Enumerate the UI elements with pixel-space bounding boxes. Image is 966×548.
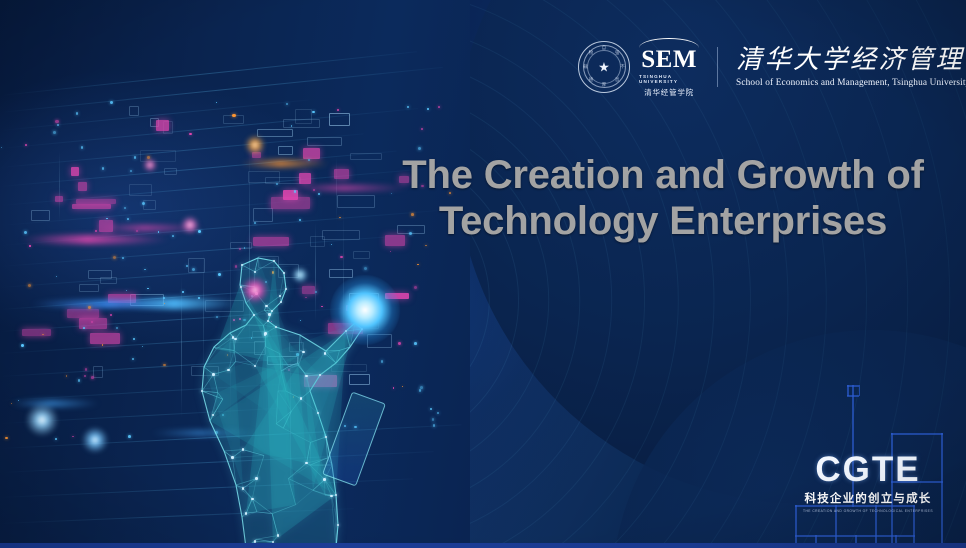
data-dot	[42, 334, 44, 336]
emblem-char: 强	[615, 51, 619, 55]
circuit-chip	[129, 184, 152, 196]
sem-wordmark: SEM	[641, 47, 697, 72]
data-dot	[294, 190, 297, 193]
circuit-chip-lit	[76, 199, 116, 204]
data-dot	[136, 230, 138, 232]
circuit-chip-lit	[253, 237, 289, 246]
emblem-char: 厚	[602, 83, 606, 87]
data-dot	[232, 114, 235, 117]
circuit-chip	[129, 106, 139, 116]
circuit-chip	[164, 168, 177, 176]
emblem-star-icon: ★	[598, 60, 610, 73]
circuit-chip	[278, 146, 293, 155]
emblem-char: 物	[589, 51, 593, 55]
circuit-chip	[253, 208, 273, 222]
figure-node	[264, 332, 267, 335]
circuit-chip	[337, 195, 375, 208]
data-dot	[25, 144, 27, 146]
data-dot	[102, 344, 103, 345]
title-line-1: The Creation and Growth of	[402, 153, 923, 197]
data-dot	[313, 189, 315, 191]
data-dot	[29, 245, 30, 246]
figure-node	[268, 313, 271, 316]
light-spark-icon	[330, 275, 400, 345]
data-dot	[88, 306, 90, 308]
data-dot	[147, 156, 149, 158]
title-line-2: Technology Enterprises	[383, 198, 943, 244]
figure-node	[302, 351, 305, 354]
emblem-char: 息	[615, 78, 619, 82]
circuit-chip	[79, 284, 99, 292]
light-streak	[10, 400, 100, 407]
light-streak	[20, 235, 170, 244]
data-dot	[110, 101, 113, 104]
data-dot	[55, 120, 58, 123]
data-dot	[85, 368, 87, 370]
data-dot	[1, 147, 2, 148]
emblem-char: 不	[620, 65, 624, 69]
data-dot	[57, 124, 59, 126]
light-streak	[240, 160, 330, 167]
circuit-chip-lit	[78, 182, 87, 191]
figure-node	[324, 352, 327, 355]
wireframe-figure-icon	[150, 255, 450, 548]
data-dot	[21, 344, 24, 347]
figure-node	[255, 477, 258, 480]
figure-node	[251, 498, 254, 501]
light-point	[82, 427, 108, 453]
figure-node	[330, 495, 333, 498]
circuit-chip-lit	[334, 169, 348, 179]
circuit-chip	[350, 153, 382, 160]
bottom-accent-strip	[0, 543, 966, 548]
figure-node	[305, 375, 308, 378]
circuit-chip-lit	[156, 120, 169, 131]
circuit-chip-lit	[303, 148, 319, 159]
figure-node	[254, 271, 257, 274]
light-point	[245, 135, 265, 155]
circuit-chip	[322, 230, 360, 240]
linework-bar	[847, 385, 859, 387]
data-dot	[110, 314, 112, 316]
light-point	[26, 404, 58, 436]
digital-artwork	[0, 0, 470, 548]
data-dot	[76, 112, 78, 114]
circuit-chip-lit	[22, 329, 50, 336]
course-name-cn: 科技企业的创立与成长	[793, 490, 943, 506]
data-dot	[66, 375, 67, 376]
school-name-en: School of Economics and Management, Tsin…	[736, 78, 966, 88]
figure-node	[323, 478, 326, 481]
data-dot	[91, 376, 94, 379]
data-dot	[5, 437, 7, 439]
sem-wordmark-block: SEM TSINGHUA UNIVERSITY 清华经管学院	[639, 36, 699, 98]
circuit-chip	[307, 137, 342, 146]
circuit-chip	[329, 113, 350, 126]
circuit-chip	[31, 210, 50, 221]
linework-bar	[847, 395, 859, 397]
circuit-chip-lit	[283, 190, 299, 200]
figure-node	[212, 373, 215, 376]
circuit-chip	[257, 129, 293, 137]
light-point	[143, 158, 157, 172]
circuit-chip	[265, 177, 301, 185]
figure-node	[231, 456, 234, 459]
data-dot	[158, 231, 159, 232]
sem-sub-cn: 清华经管学院	[644, 87, 694, 98]
circuit-chip-lit	[72, 204, 111, 209]
school-name-block: 清华大学经济管理学院 School of Economics and Manag…	[736, 46, 966, 88]
course-acronym: CGTE	[793, 452, 943, 487]
figure-node	[242, 448, 245, 451]
circuit-chip	[100, 277, 117, 284]
data-dot	[142, 202, 145, 205]
emblem-char: 载	[583, 65, 587, 69]
circuit-chip-lit	[299, 173, 311, 184]
title-slide: ★ 自强不息厚德载物 SEM TSINGHUA UNIVERSITY 清华经管学…	[0, 0, 966, 548]
emblem-char: 自	[602, 46, 606, 50]
data-dot	[78, 379, 81, 382]
sem-sub-en: TSINGHUA UNIVERSITY	[639, 74, 699, 84]
data-dot	[318, 193, 320, 195]
data-dot	[53, 131, 56, 134]
data-dot	[83, 327, 85, 329]
course-name-en: THE CREATION AND GROWTH OF TECHNOLOGICAL…	[793, 509, 943, 513]
data-dot	[72, 436, 73, 437]
circuit-chip	[223, 115, 244, 124]
data-dot	[299, 219, 301, 221]
circuit-vertical	[59, 151, 60, 222]
data-dot	[127, 218, 129, 220]
data-dot	[95, 230, 97, 232]
circuit-chip-lit	[55, 196, 63, 203]
circuit-chip	[283, 119, 319, 128]
data-dot	[418, 147, 421, 150]
data-dot	[172, 235, 174, 237]
data-dot	[407, 106, 408, 107]
circuit-chip-lit	[71, 167, 79, 176]
page-title: The Creation and Growth of Technology En…	[383, 152, 943, 245]
logo-divider	[717, 47, 718, 87]
data-dot	[102, 167, 104, 169]
circuit-chip-lit	[67, 309, 99, 319]
course-logo: CGTE 科技企业的创立与成长 THE CREATION AND GROWTH …	[793, 452, 943, 513]
circuit-chip-lit	[90, 333, 120, 344]
data-dot	[390, 251, 391, 252]
circuit-chip	[143, 200, 156, 211]
figure-node	[265, 305, 268, 308]
figure-node	[277, 534, 280, 537]
data-dot	[128, 435, 131, 438]
light-point	[181, 216, 199, 234]
data-dot	[312, 111, 315, 114]
wireframe-figure-svg	[150, 255, 450, 548]
circuit-chip	[93, 366, 104, 378]
data-dot	[28, 284, 31, 287]
tsinghua-emblem-icon: ★ 自强不息厚德载物	[578, 41, 630, 93]
data-dot	[339, 217, 341, 219]
data-dot	[55, 438, 57, 440]
data-dot	[130, 170, 131, 171]
figure-accent-glow	[242, 277, 268, 303]
emblem-char: 德	[589, 78, 593, 82]
data-dot	[132, 358, 134, 360]
school-name-cn: 清华大学经济管理学院	[736, 46, 966, 74]
tsinghua-sem-logo: ★ 自强不息厚德载物 SEM TSINGHUA UNIVERSITY 清华经管学…	[578, 36, 966, 98]
data-dot	[425, 245, 426, 246]
linework-bar	[891, 433, 943, 435]
